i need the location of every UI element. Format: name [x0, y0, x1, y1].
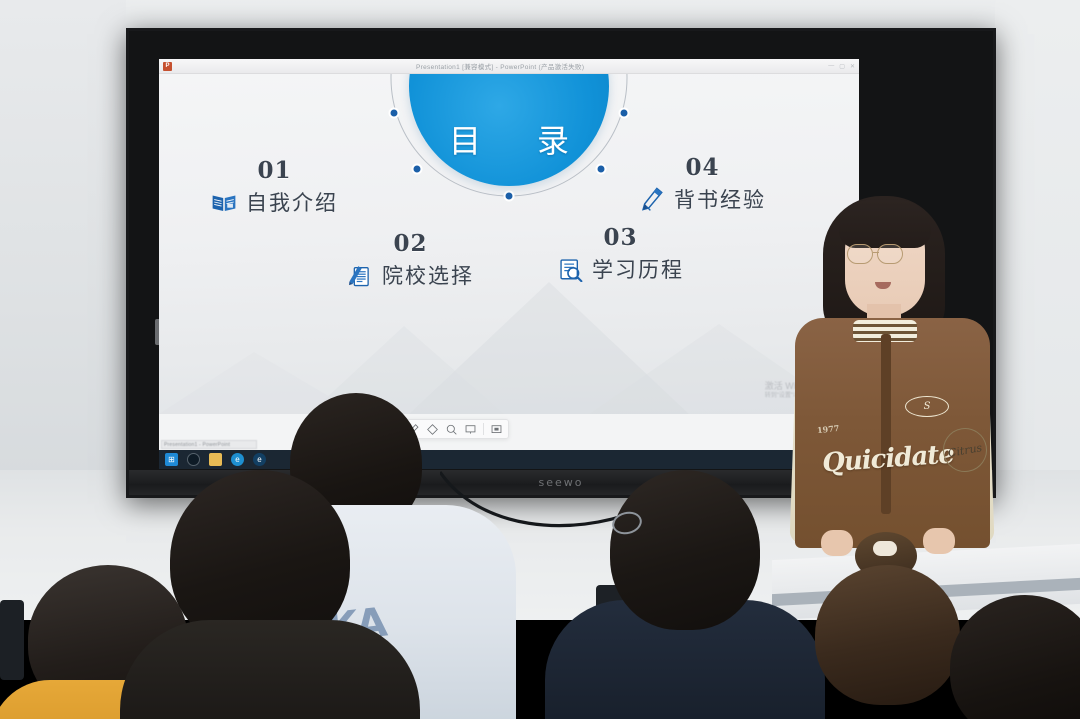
audience-head-5 — [815, 565, 960, 705]
desktop[interactable]: P Presentation1 [兼容模式] - PowerPoint (产品激… — [159, 59, 859, 469]
toc-item-01[interactable]: 01 自我介绍 — [211, 159, 338, 217]
taskbar-tooltip: Presentation1 - PowerPoint — [161, 440, 257, 449]
frame-icon[interactable] — [462, 421, 479, 437]
pencil-icon — [639, 186, 665, 212]
toc-label: 院校选择 — [382, 260, 474, 290]
chair-back-left — [0, 600, 24, 680]
powerpoint-titlebar[interactable]: P Presentation1 [兼容模式] - PowerPoint (产品激… — [159, 59, 859, 74]
glasses-bridge — [873, 252, 879, 253]
toc-number: 01 — [211, 159, 338, 182]
toc-number: 03 — [557, 226, 684, 249]
eraser-icon[interactable] — [424, 421, 441, 437]
toc-label: 自我介绍 — [246, 187, 338, 217]
jacket-placket — [881, 334, 891, 514]
toc-number: 04 — [639, 156, 766, 179]
toc-item-04[interactable]: 04 背书经验 — [639, 156, 766, 214]
window-controls[interactable]: — ▢ ✕ — [828, 63, 855, 70]
cortana-button[interactable] — [187, 453, 200, 466]
toc-label: 背书经验 — [674, 184, 766, 214]
presenter-right-hand — [923, 528, 955, 554]
edge-button[interactable]: e — [231, 453, 244, 466]
slide-title: 目 录 — [437, 116, 581, 162]
toolbar-divider — [483, 423, 484, 435]
start-button[interactable]: ⊞ — [165, 453, 178, 466]
magnifier-icon[interactable] — [443, 421, 460, 437]
jacket-chest-badge: S — [905, 396, 949, 417]
hair-scrunchie — [873, 541, 897, 556]
presenter-left-hand — [821, 530, 853, 556]
classroom-scene: ▸ P Presentation1 [兼容模式] - PowerPoint (产… — [0, 0, 1080, 719]
toc-item-02[interactable]: 02 院校选择 — [347, 232, 474, 290]
glasses-left-lens — [847, 244, 873, 264]
restore-button[interactable]: ▢ — [839, 63, 845, 70]
presenter: 1977 S Quicidate Citrus — [795, 196, 990, 576]
notepad-pen-icon — [347, 262, 373, 288]
audience-body-2 — [120, 620, 420, 719]
minimize-button[interactable]: — — [828, 63, 834, 70]
back-wall-right — [995, 0, 1080, 520]
close-button[interactable]: ✕ — [850, 63, 855, 70]
toc-item-03[interactable]: 03 学习历程 — [557, 226, 684, 284]
presenter-hair-front — [839, 200, 931, 248]
back-wall-left — [0, 0, 126, 500]
toc-label: 学习历程 — [592, 254, 684, 284]
window-title: Presentation1 [兼容模式] - PowerPoint (产品激活失… — [176, 61, 824, 71]
powerpoint-icon: P — [163, 62, 172, 71]
mountain-background — [159, 264, 859, 414]
audience-head-4 — [610, 470, 760, 630]
document-search-icon — [557, 256, 583, 282]
open-book-icon — [211, 189, 237, 215]
toc-number: 02 — [347, 232, 474, 255]
slide-canvas[interactable]: 目 录 01 — [159, 74, 859, 414]
glasses-right-lens — [877, 244, 903, 264]
file-explorer-button[interactable] — [209, 453, 222, 466]
browser-button[interactable]: e — [253, 453, 266, 466]
present-icon[interactable] — [488, 421, 505, 437]
windows-taskbar[interactable]: ⊞ e e — [159, 450, 859, 469]
